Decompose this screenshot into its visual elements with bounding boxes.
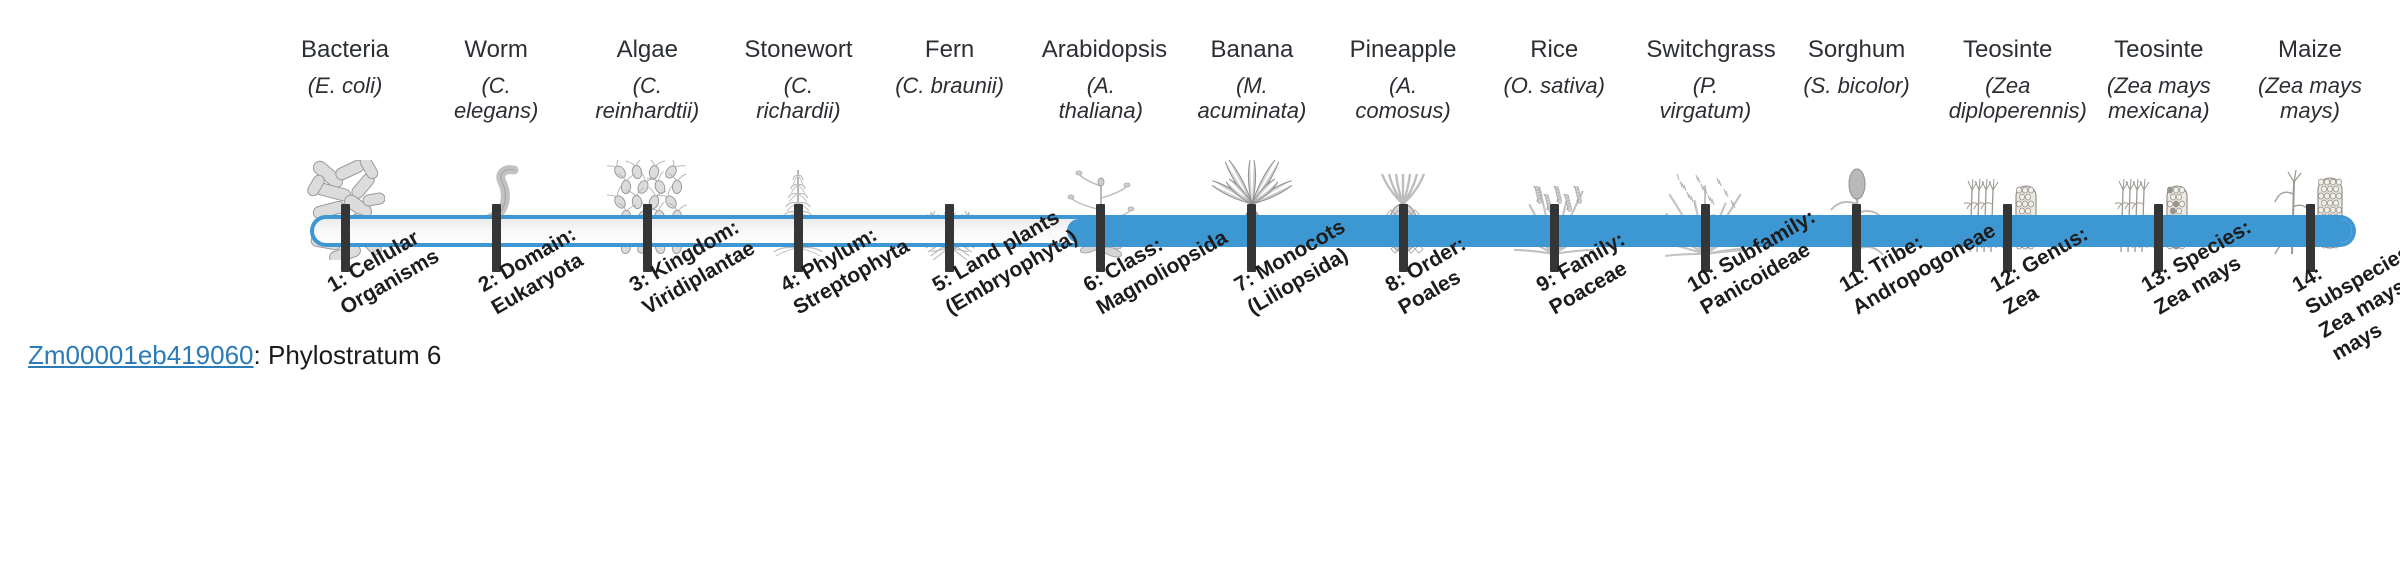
species-column-pineapple-7: Pineapple(A. comosus) — [1344, 36, 1462, 130]
species-common-name: Fern — [891, 36, 1009, 66]
species-scientific-name: (E. coli) — [286, 74, 404, 130]
phylostratum-timeline: Zm00001eb419060: Phylostratum 6 Bacteria… — [0, 0, 2400, 580]
species-column-sorghum-10: Sorghum(S. bicolor) — [1798, 36, 1916, 130]
species-scientific-name: (C. reinhardtii) — [588, 74, 706, 130]
species-common-name: Switchgrass — [1646, 36, 1764, 66]
species-common-name: Teosinte — [1949, 36, 2067, 66]
species-column-rice-8: Rice(O. sativa) — [1495, 36, 1613, 130]
species-scientific-name: (S. bicolor) — [1798, 74, 1916, 130]
species-column-algae-2: Algae(C. reinhardtii) — [588, 36, 706, 130]
species-column-teosinte-11: Teosinte(Zea diploperennis) — [1949, 36, 2067, 130]
species-scientific-name: (Zea diploperennis) — [1949, 74, 2067, 130]
gene-phylostratum-label: Zm00001eb419060: Phylostratum 6 — [28, 340, 441, 371]
species-column-stonewort-3: Stonewort(C. richardii) — [739, 36, 857, 130]
phylostratum-value: Phylostratum 6 — [268, 340, 441, 370]
species-common-name: Rice — [1495, 36, 1613, 66]
species-column-teosinte-12: Teosinte(Zea mays mexicana) — [2100, 36, 2218, 130]
species-common-name: Pineapple — [1344, 36, 1462, 66]
species-scientific-name: (Zea mays mexicana) — [2100, 74, 2218, 130]
species-common-name: Stonewort — [739, 36, 857, 66]
species-column-switchgrass-9: Switchgrass(P. virgatum) — [1646, 36, 1764, 130]
species-column-banana-6: Banana(M. acuminata) — [1193, 36, 1311, 130]
species-common-name: Sorghum — [1798, 36, 1916, 66]
species-common-name: Algae — [588, 36, 706, 66]
species-column-worm-1: Worm(C. elegans) — [437, 36, 555, 130]
species-scientific-name: (O. sativa) — [1495, 74, 1613, 130]
species-scientific-name: (C. richardii) — [739, 74, 857, 130]
species-scientific-name: (M. acuminata) — [1193, 74, 1311, 130]
species-common-name: Arabidopsis — [1042, 36, 1160, 66]
species-scientific-name: (A. thaliana) — [1042, 74, 1160, 130]
species-column-fern-4: Fern(C. braunii) — [891, 36, 1009, 130]
species-common-name: Bacteria — [286, 36, 404, 66]
gene-id-link[interactable]: Zm00001eb419060 — [28, 340, 254, 370]
species-scientific-name: (Zea mays mays) — [2251, 74, 2369, 130]
species-column-arabidopsis-5: Arabidopsis(A. thaliana) — [1042, 36, 1160, 130]
species-common-name: Teosinte — [2100, 36, 2218, 66]
species-column-bacteria-0: Bacteria(E. coli) — [286, 36, 404, 130]
species-scientific-name: (A. comosus) — [1344, 74, 1462, 130]
gene-separator: : — [254, 340, 268, 370]
species-common-name: Worm — [437, 36, 555, 66]
species-common-name: Maize — [2251, 36, 2369, 66]
species-scientific-name: (C. braunii) — [891, 74, 1009, 130]
species-column-maize-13: Maize(Zea mays mays) — [2251, 36, 2369, 130]
species-scientific-name: (C. elegans) — [437, 74, 555, 130]
species-common-name: Banana — [1193, 36, 1311, 66]
species-scientific-name: (P. virgatum) — [1646, 74, 1764, 130]
